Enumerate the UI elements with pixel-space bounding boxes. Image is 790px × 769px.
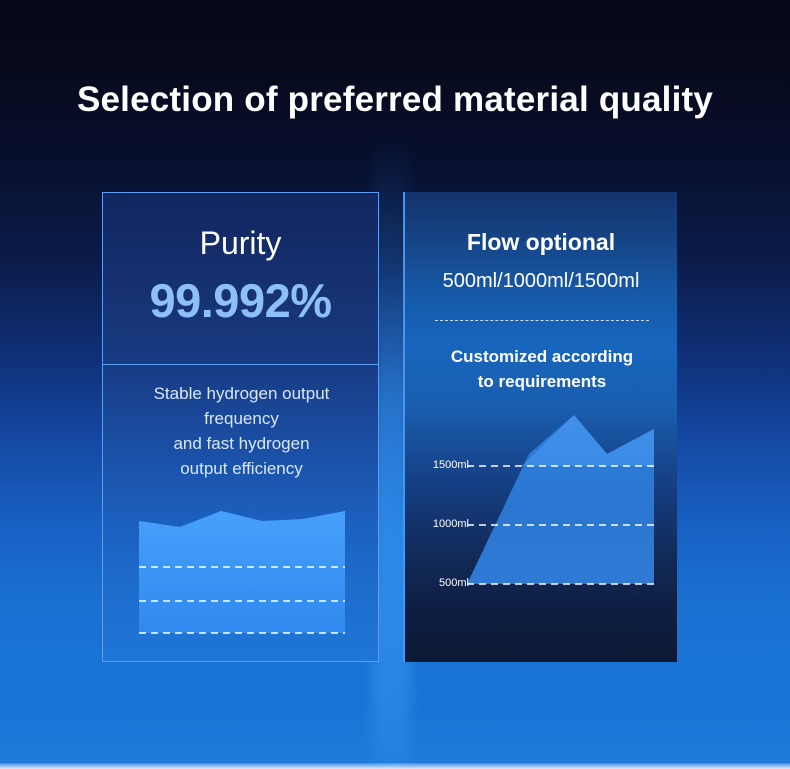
flow-note-line-1: Customized according: [415, 344, 669, 369]
purity-description-line-2: frequency: [119, 406, 364, 431]
purity-chart-svg: [139, 505, 345, 643]
flow-area-highlight-path: [522, 415, 654, 466]
flow-axis-tick-1000: 1000ml: [417, 518, 469, 530]
flow-axis-tick-1500: 1500ml: [417, 459, 469, 471]
purity-area-path: [139, 511, 345, 633]
purity-card: Purity 99.992% Stable hydrogen output fr…: [102, 192, 379, 662]
purity-label: Purity: [103, 225, 378, 262]
flow-note: Customized according to requirements: [415, 344, 669, 394]
flow-note-line-2: to requirements: [415, 369, 669, 394]
flow-title: Flow optional: [405, 229, 677, 256]
flow-dashed-divider: [435, 320, 649, 321]
page-title: Selection of preferred material quality: [0, 80, 790, 120]
flow-card: Flow optional 500ml/1000ml/1500ml Custom…: [403, 192, 677, 662]
flow-sizes: 500ml/1000ml/1500ml: [405, 270, 677, 293]
purity-description-line-4: output efficiency: [119, 456, 364, 481]
bottom-strip: [0, 763, 790, 769]
purity-header-section: Purity 99.992%: [103, 193, 378, 365]
purity-value: 99.992%: [103, 273, 378, 328]
flow-area-chart: 1500ml 1000ml 500ml: [419, 399, 669, 599]
flow-chart-svg: [419, 399, 669, 599]
purity-description-line-1: Stable hydrogen output: [119, 381, 364, 406]
poster-root: Selection of preferred material quality …: [0, 0, 790, 769]
flow-axis-tick-500: 500ml: [417, 577, 469, 589]
purity-description-line-3: and fast hydrogen: [119, 431, 364, 456]
purity-description: Stable hydrogen output frequency and fas…: [119, 381, 364, 481]
purity-area-chart: [139, 505, 345, 643]
